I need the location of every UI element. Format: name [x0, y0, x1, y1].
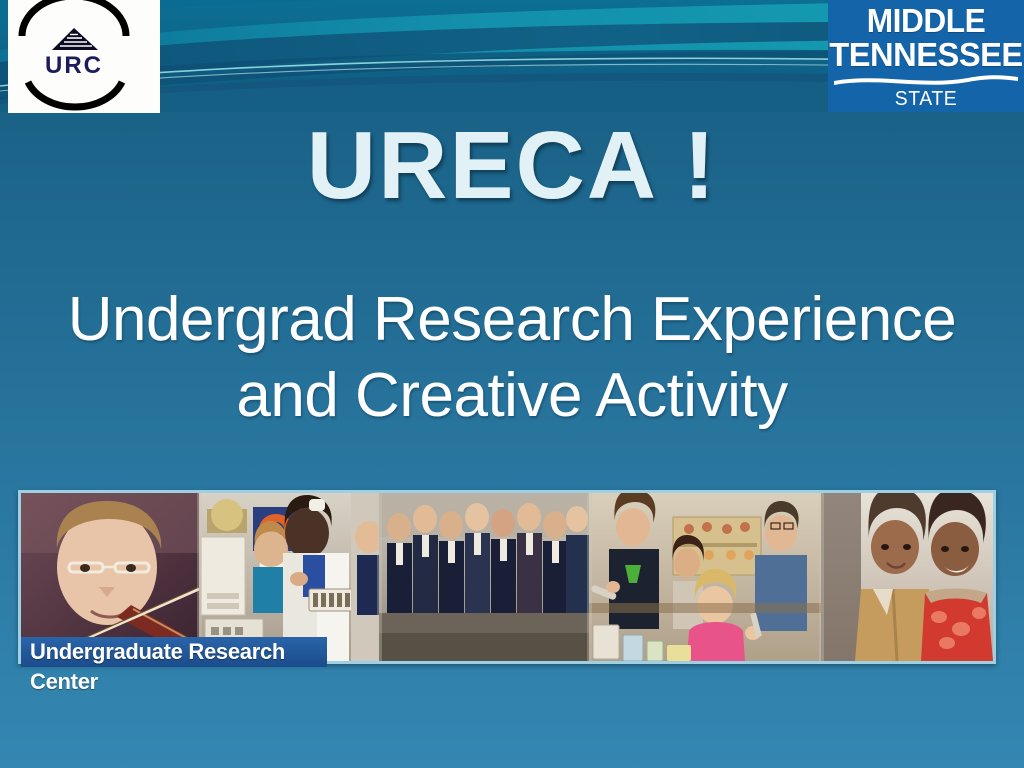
photo-panel-two-women [821, 493, 993, 661]
urc-logo: URC [8, 0, 160, 113]
photo-panel-lab-and-art [199, 493, 383, 661]
mtsu-logo-line-middle: MIDDLE [832, 4, 1020, 37]
slide-subtitle: Undergrad Research Experience and Creati… [0, 282, 1024, 433]
subtitle-line-1: Undergrad Research Experience [0, 282, 1024, 358]
subtitle-line-2: and Creative Activity [0, 358, 1024, 434]
urc-logo-text: URC [45, 52, 103, 79]
urc-logo-graphic: URC [8, 0, 160, 113]
presentation-slide: URC MIDDLE TENNESSEE STATE UNIVERSITY UR… [0, 0, 1024, 768]
photo-collage-graphic [21, 493, 993, 661]
photo-caption-banner: Undergraduate Research Center [21, 637, 327, 667]
mtsu-logo-line-state-university: STATE UNIVERSITY [831, 88, 1021, 112]
mtsu-logo-line-tennessee: TENNESSEE [829, 38, 1023, 71]
slide-main-title: URECA ! [0, 116, 1024, 217]
photo-panel-volunteers-painting [589, 493, 821, 661]
mtsu-wave-icon [828, 72, 1024, 86]
photo-panel-violinist [21, 493, 199, 661]
photo-panel-formal-group [379, 493, 589, 661]
mtsu-logo: MIDDLE TENNESSEE STATE UNIVERSITY [828, 0, 1024, 112]
